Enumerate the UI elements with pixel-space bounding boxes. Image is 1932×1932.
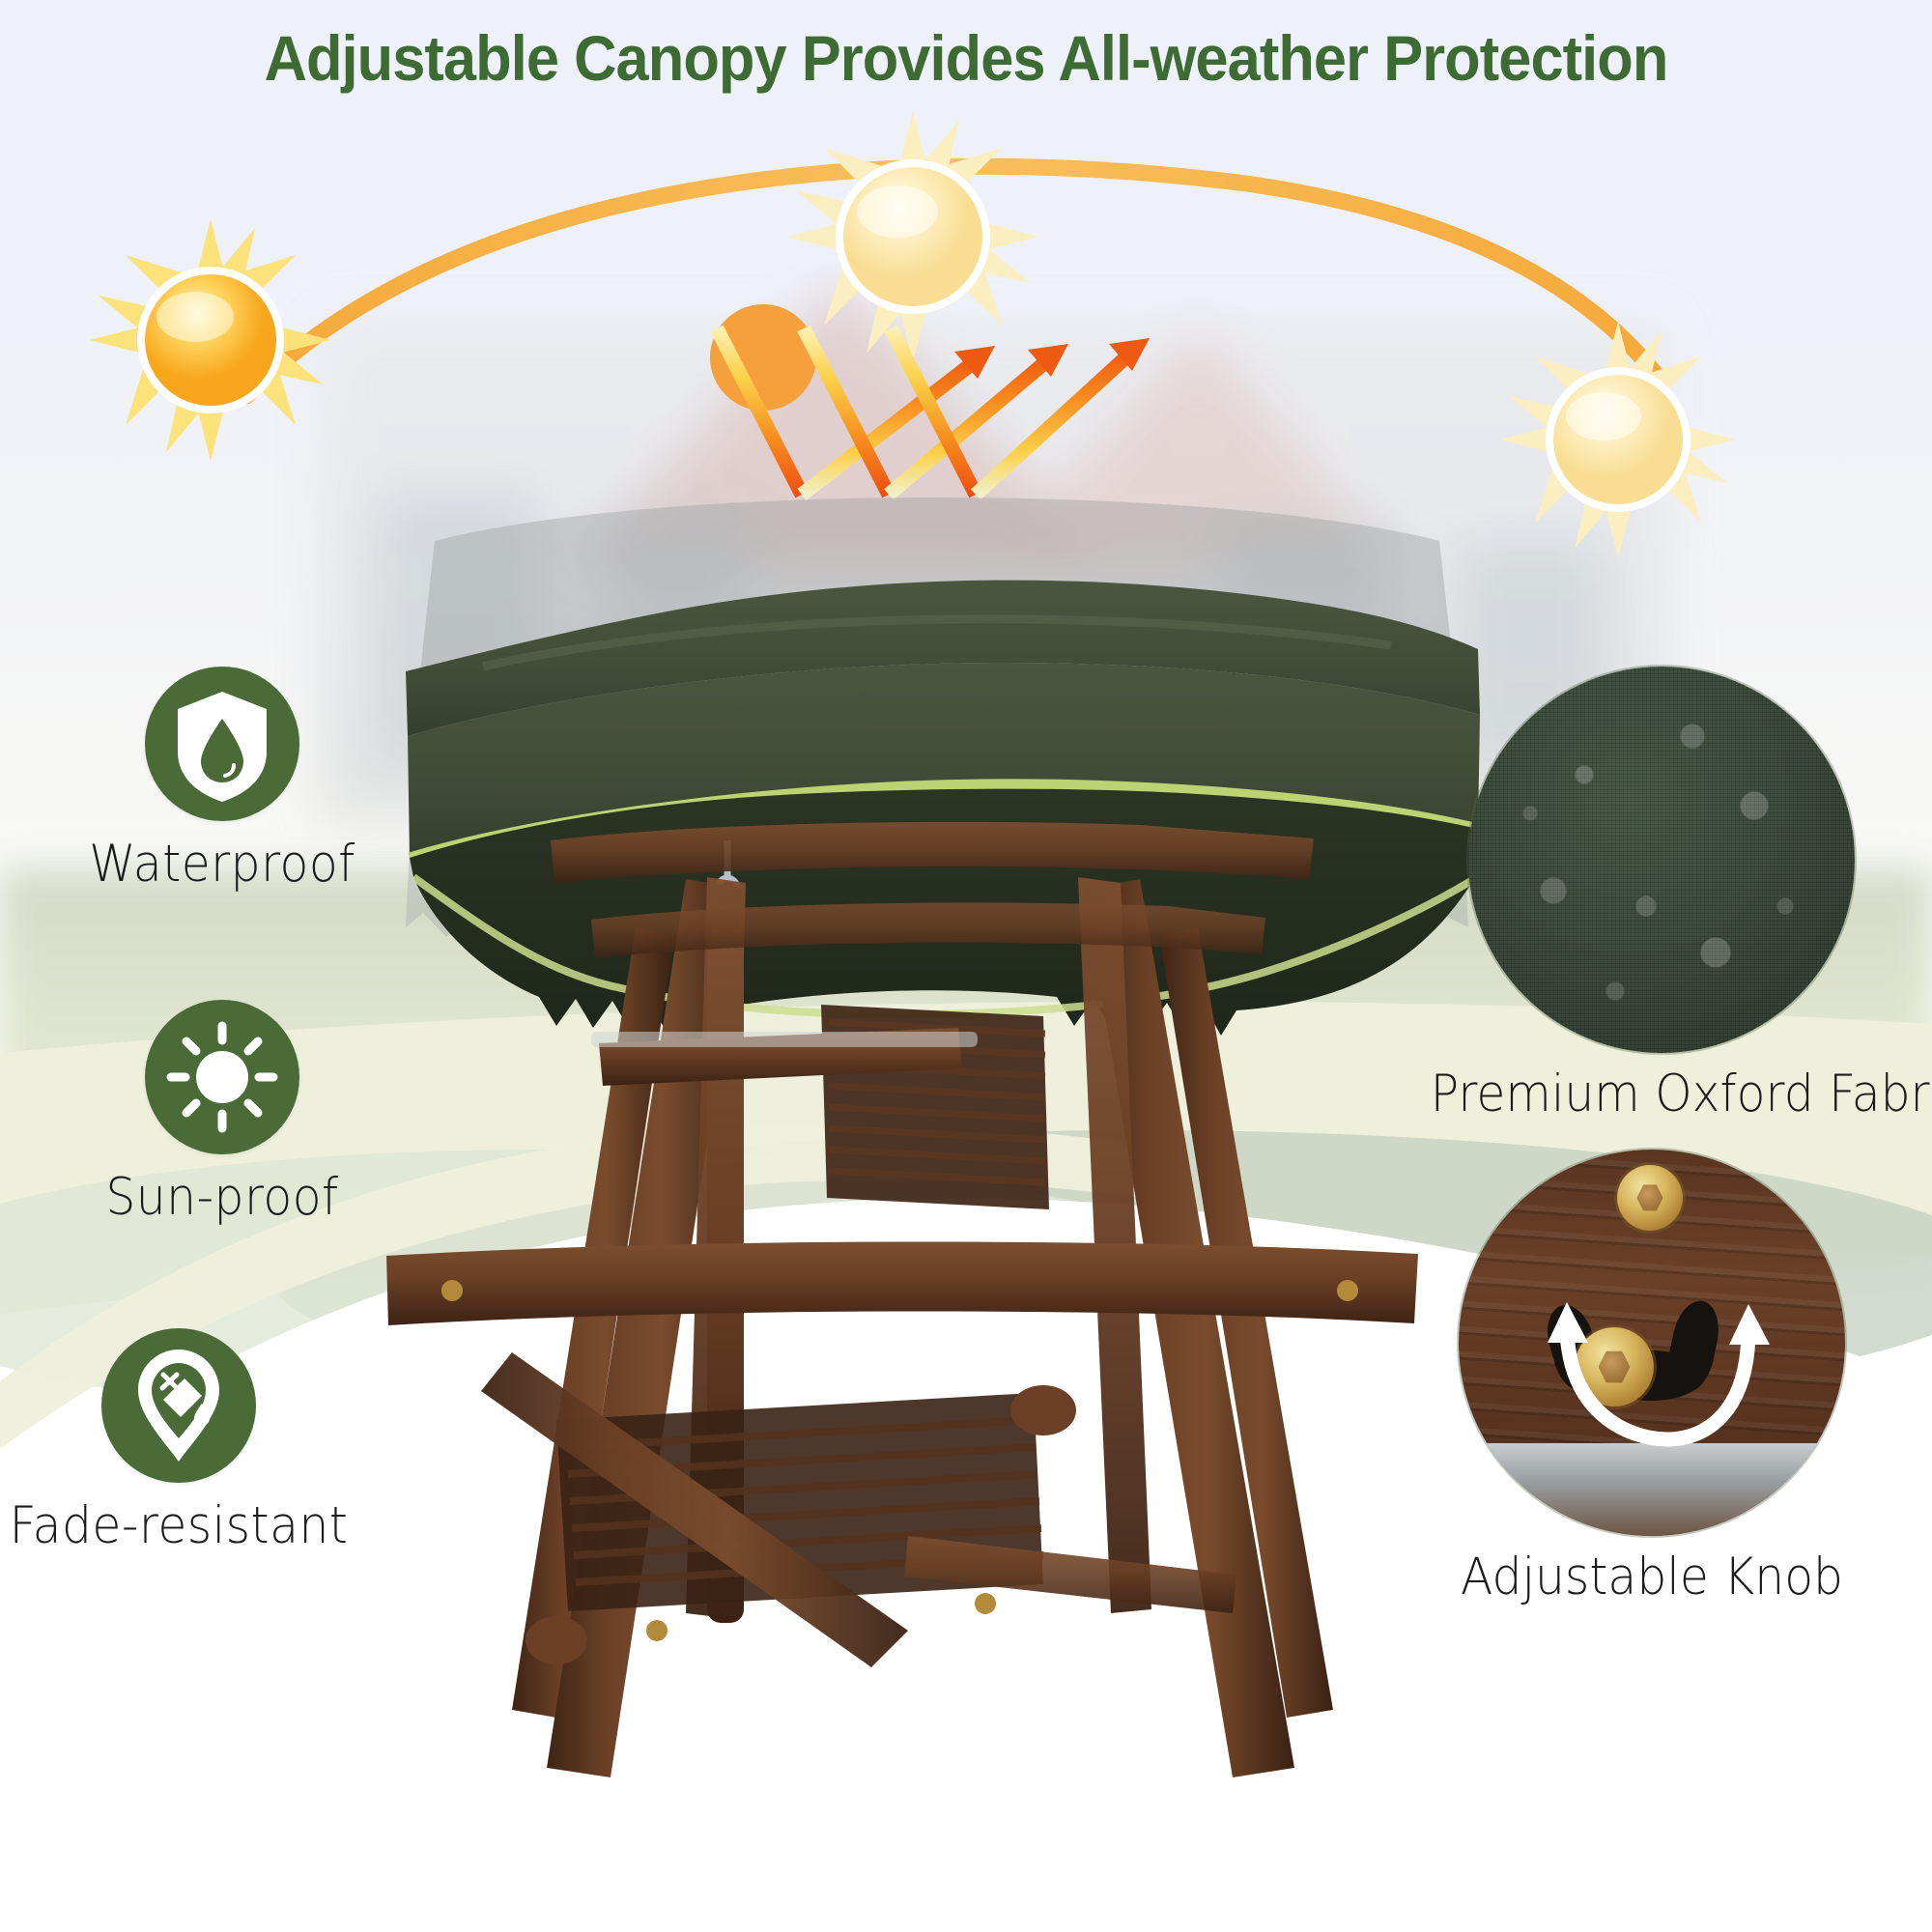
screw-icon	[1337, 1280, 1358, 1301]
frame-lower-rail	[904, 1536, 1236, 1613]
rotation-arrow-icon	[1459, 1150, 1845, 1536]
callout-oxford-fabric: Premium Oxford Fabric	[1410, 667, 1913, 1123]
feature-waterproof: Waterproof	[19, 667, 425, 894]
sun-icon	[145, 1000, 299, 1154]
feature-label: Waterproof	[36, 835, 409, 894]
infographic-canvas: Adjustable Canopy Provides All-weather P…	[0, 0, 1932, 1932]
adjustable-canopy	[406, 581, 1480, 1036]
screw-icon	[441, 1280, 463, 1301]
screw-icon	[646, 1620, 668, 1641]
shield-droplet-icon	[145, 667, 299, 821]
sun-noon-icon	[787, 111, 1038, 362]
arm-cap	[526, 1616, 587, 1664]
pin-paint-bucket-icon	[101, 1328, 256, 1483]
porch-swing-product	[367, 425, 1507, 1797]
feature-fade-resistant: Fade-resistant	[0, 1328, 382, 1555]
callout-adjustable-knob: Adjustable Knob	[1401, 1150, 1903, 1606]
knob-closeup-image	[1459, 1150, 1845, 1536]
feature-sun-proof: Sun-proof	[19, 1000, 425, 1227]
frame-main-beam	[386, 1241, 1418, 1325]
arm-cap	[1010, 1385, 1076, 1435]
feature-label: Sun-proof	[36, 1168, 409, 1227]
feature-label: Fade-resistant	[0, 1496, 365, 1555]
screw-icon	[975, 1593, 996, 1614]
sun-evening-icon	[1500, 322, 1736, 557]
callout-label: Adjustable Knob	[1421, 1548, 1883, 1606]
fabric-closeup-image	[1468, 667, 1855, 1053]
callout-label: Premium Oxford Fabric	[1431, 1065, 1892, 1123]
sun-morning-icon	[90, 219, 331, 461]
